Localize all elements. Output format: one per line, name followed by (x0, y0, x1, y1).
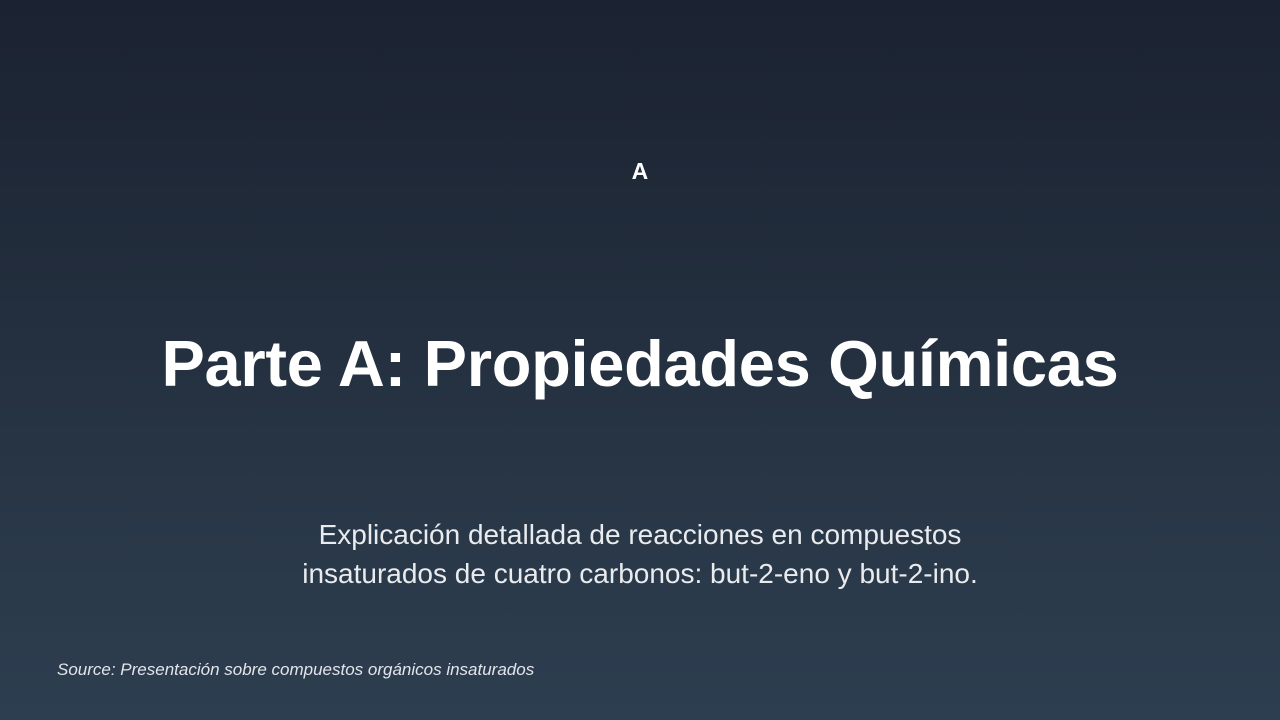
slide-subtitle-line-2: insaturados de cuatro carbonos: but-2-en… (240, 554, 1040, 593)
slide-title: Parte A: Propiedades Químicas (161, 322, 1118, 406)
source-caption: Source: Presentación sobre compuestos or… (57, 658, 534, 682)
slide-subtitle-line-1: Explicación detallada de reacciones en c… (240, 515, 1040, 554)
section-letter-label: A (0, 156, 1280, 186)
slide-subtitle-container: Explicación detallada de reacciones en c… (240, 515, 1040, 593)
slide-subtitle: Explicación detallada de reacciones en c… (240, 515, 1040, 593)
presentation-slide: A Parte A: Propiedades Químicas Explicac… (0, 0, 1280, 720)
slide-title-container: Parte A: Propiedades Químicas (0, 322, 1280, 406)
